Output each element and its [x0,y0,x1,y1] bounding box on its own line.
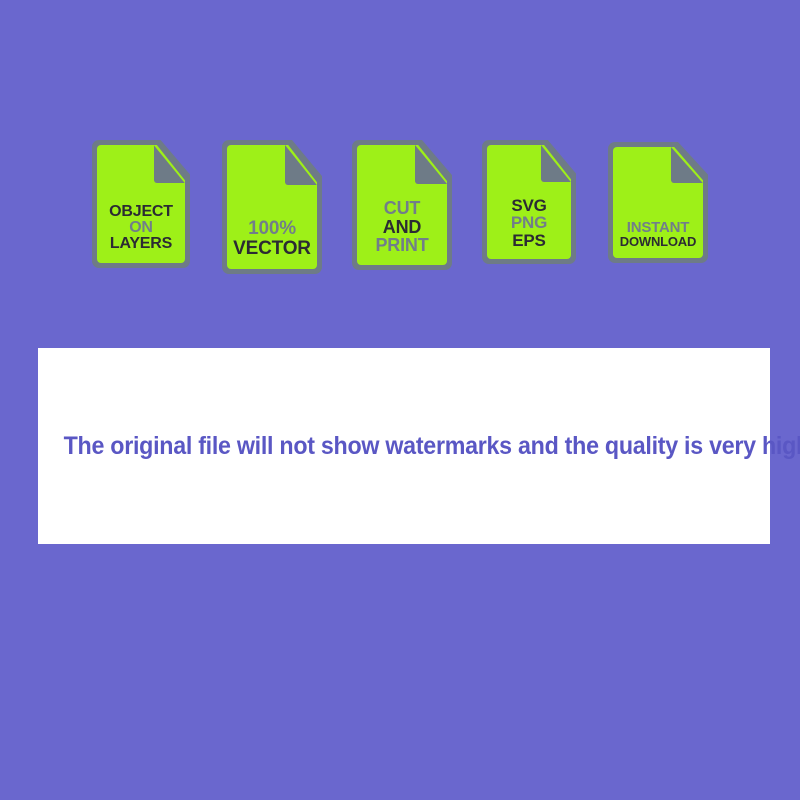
badge-text-stack: INSTANTDOWNLOAD [608,220,708,249]
badge-line: OBJECT [109,204,173,220]
feature-badge-instant-download[interactable]: INSTANTDOWNLOAD [608,142,708,263]
badge-line: CUT [384,199,420,217]
feature-badge-one-hundred-percent-vector[interactable]: 100%VECTOR [222,140,322,274]
badge-line: 100% [248,219,296,238]
badge-line: PRINT [375,236,428,254]
badge-text-stack: CUTANDPRINT [352,199,452,254]
feature-badge-row: OBJECTONLAYERS100%VECTORCUTANDPRINTSVGPN… [0,138,800,278]
badge-line: SVG [511,197,546,214]
badge-line: AND [383,218,421,236]
feature-badge-svg-png-eps[interactable]: SVGPNGEPS [482,140,576,264]
badge-text-stack: 100%VECTOR [222,219,322,258]
feature-badge-object-on-layers[interactable]: OBJECTONLAYERS [92,140,190,268]
badge-line: VECTOR [233,239,311,258]
badge-text-stack: OBJECTONLAYERS [92,204,190,253]
badge-line: EPS [512,232,545,249]
feature-badge-cut-and-print[interactable]: CUTANDPRINT [352,140,452,270]
badge-line: PNG [511,214,547,231]
badge-text-stack: SVGPNGEPS [482,197,576,249]
watermark-notice-text: The original file will not show watermar… [64,432,745,461]
watermark-notice-banner: The original file will not show watermar… [38,348,770,544]
badge-line: INSTANT [627,220,689,235]
poster-canvas: OBJECTONLAYERS100%VECTORCUTANDPRINTSVGPN… [0,0,800,800]
badge-line: DOWNLOAD [620,235,696,248]
badge-line: LAYERS [110,236,172,252]
badge-line: ON [129,220,153,236]
